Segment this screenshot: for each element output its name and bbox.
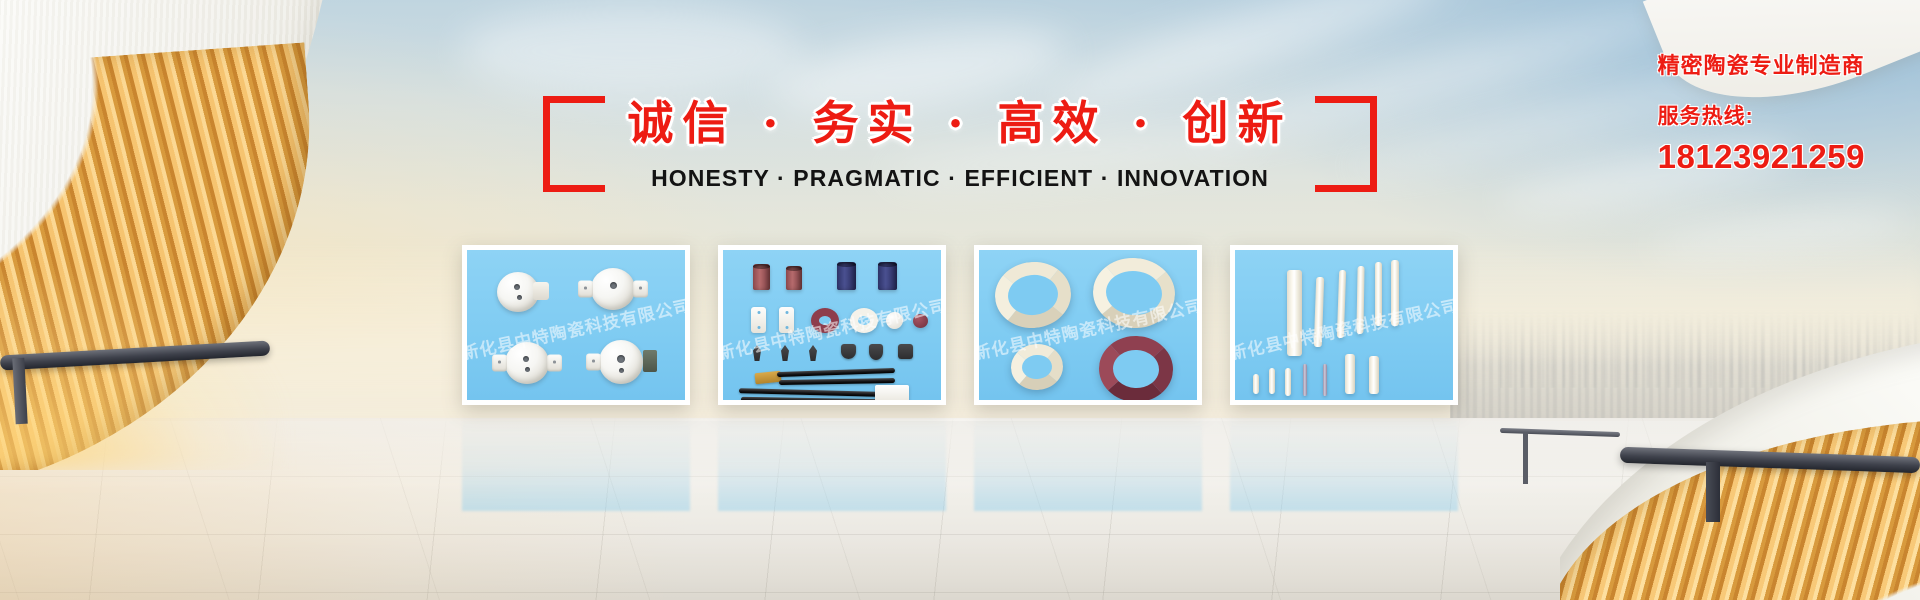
ceramic-rod xyxy=(1375,262,1382,326)
ceramic-ring-maroon xyxy=(811,308,839,333)
product-panel-components[interactable]: 新化县中特陶瓷科技有限公司 xyxy=(718,245,946,405)
ceramic-rod xyxy=(1356,266,1364,334)
cloud-streak xyxy=(461,6,801,96)
ceramic-disc-maroon xyxy=(913,314,928,328)
ceramic-ring-large xyxy=(992,258,1074,332)
ceramic-ring-white xyxy=(850,308,878,333)
cable-wire xyxy=(739,388,879,397)
panel-floor-reflection xyxy=(462,415,690,511)
product-panel-lamp-holders[interactable]: 新化县中特陶瓷科技有限公司 xyxy=(462,245,690,405)
ceramic-pin xyxy=(1303,364,1307,396)
ceramic-pin xyxy=(1323,364,1327,396)
ceramic-plate xyxy=(779,307,794,333)
ceramic-rod xyxy=(1337,270,1346,338)
panel-image-area: 新化县中特陶瓷科技有限公司 xyxy=(979,250,1197,400)
product-panel-rings[interactable]: 新化县中特陶瓷科技有限公司 xyxy=(974,245,1202,405)
metal-clip xyxy=(753,345,761,361)
panel-floor-reflection xyxy=(1230,415,1458,511)
ceramic-ring-small xyxy=(1009,342,1064,392)
ceramic-rod xyxy=(1391,260,1399,326)
phone-number[interactable]: 18123921259 xyxy=(1658,138,1865,176)
left-bracket-decoration xyxy=(543,96,605,192)
company-tagline: 精密陶瓷专业制造商 xyxy=(1658,48,1865,80)
product-panel-rods[interactable]: 新化县中特陶瓷科技有限公司 xyxy=(1230,245,1458,405)
ceramic-tube xyxy=(1345,354,1355,394)
ceramic-rod xyxy=(1314,277,1324,347)
lamp-holder-part-stem xyxy=(533,282,549,300)
metal-clip xyxy=(898,344,913,359)
right-railing-upper-post xyxy=(1523,432,1528,484)
ceramic-sleeve-navy xyxy=(837,262,856,290)
panel-floor-reflection xyxy=(974,415,1202,511)
ceramic-disc-white xyxy=(886,312,903,329)
right-railing-post xyxy=(1706,462,1720,522)
metal-clip xyxy=(841,344,856,359)
lamp-holder-part xyxy=(591,268,635,310)
ceramic-tube xyxy=(1369,356,1379,394)
cable-wire xyxy=(779,378,895,385)
panel-image-area: 新化县中特陶瓷科技有限公司 xyxy=(723,250,941,400)
panel-image-area: 新化县中特陶瓷科技有限公司 xyxy=(1235,250,1453,400)
metal-clip xyxy=(781,345,789,361)
cable-connector xyxy=(875,385,909,400)
ceramic-rod-short xyxy=(1253,374,1259,394)
right-bracket-decoration xyxy=(1315,96,1377,192)
cable-wire xyxy=(777,368,895,377)
metal-clip xyxy=(809,345,817,361)
contact-block: 精密陶瓷专业制造商 服务热线: 18123921259 xyxy=(1658,48,1865,176)
lamp-holder-part xyxy=(505,342,549,384)
ceramic-sleeve-maroon xyxy=(786,266,802,290)
panel-image-area: 新化县中特陶瓷科技有限公司 xyxy=(467,250,685,400)
promotional-banner: 诚信 · 务实 · 高效 · 创新 HONESTY · PRAGMATIC · … xyxy=(0,0,1920,600)
ceramic-sleeve-maroon xyxy=(753,264,770,290)
ceramic-plate xyxy=(751,307,766,333)
ceramic-rod-short xyxy=(1285,368,1291,396)
slogan-chinese: 诚信 · 务实 · 高效 · 创新 xyxy=(627,96,1292,150)
hotline-label: 服务热线: xyxy=(1658,100,1865,130)
lamp-holder-part xyxy=(599,340,643,384)
lamp-holder-terminal xyxy=(643,350,657,372)
metal-clip xyxy=(869,344,883,360)
ceramic-rod-short xyxy=(1269,368,1275,394)
product-panel-row: 新化县中特陶瓷科技有限公司 xyxy=(0,245,1920,405)
cable-wire xyxy=(741,397,879,400)
slogan-english: HONESTY · PRAGMATIC · EFFICIENT · INNOVA… xyxy=(627,165,1292,192)
ceramic-rod-large xyxy=(1287,270,1302,356)
ceramic-sleeve-navy xyxy=(878,262,897,290)
slogan-block: 诚信 · 务实 · 高效 · 创新 HONESTY · PRAGMATIC · … xyxy=(0,96,1920,192)
ceramic-ring-large xyxy=(1090,255,1178,332)
ceramic-ring-maroon xyxy=(1097,334,1174,400)
panel-floor-reflection xyxy=(718,415,946,511)
slogan-texts: 诚信 · 务实 · 高效 · 创新 HONESTY · PRAGMATIC · … xyxy=(627,96,1292,191)
